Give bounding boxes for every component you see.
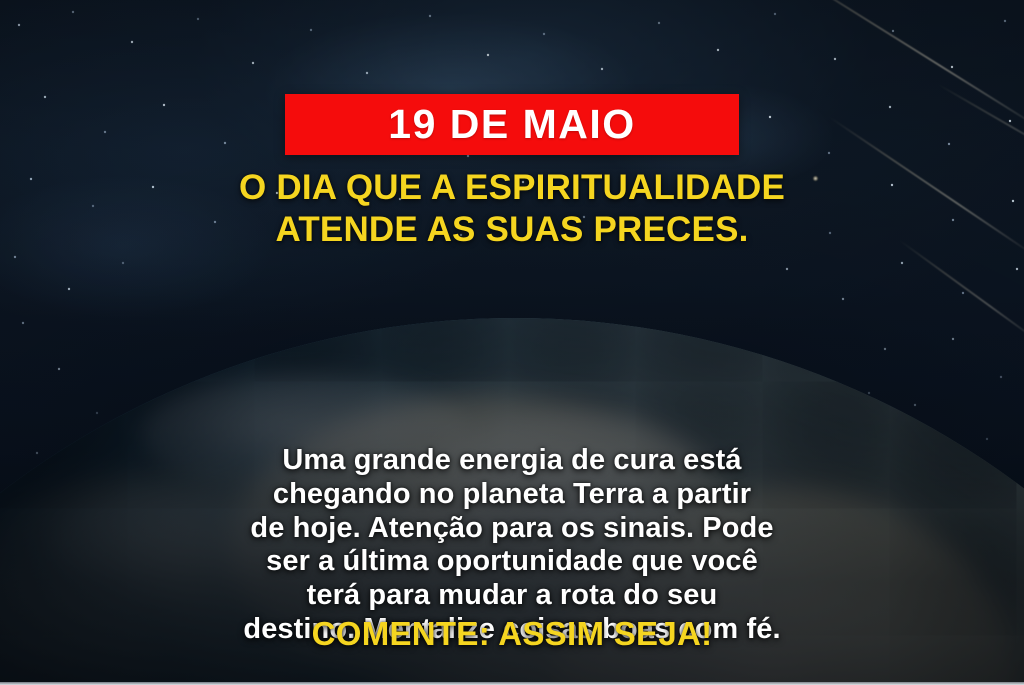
body-line-5: terá para mudar a rota do seu bbox=[0, 579, 1024, 613]
body-line-1: Uma grande energia de cura está bbox=[0, 444, 1024, 478]
headline-line-1: O DIA QUE A ESPIRITUALIDADE bbox=[0, 167, 1024, 209]
body-line-4: ser a última oportunidade que você bbox=[0, 545, 1024, 579]
date-banner-label: 19 DE MAIO bbox=[388, 104, 635, 145]
poster-image: 19 DE MAIO O DIA QUE A ESPIRITUALIDADE A… bbox=[0, 0, 1024, 685]
headline-line-2: ATENDE AS SUAS PRECES. bbox=[0, 209, 1024, 251]
body-line-3: de hoje. Atenção para os sinais. Pode bbox=[0, 512, 1024, 546]
call-to-action-text: COMENTE: ASSIM SEJA! bbox=[0, 616, 1024, 652]
poster-content: 19 DE MAIO O DIA QUE A ESPIRITUALIDADE A… bbox=[0, 0, 1024, 685]
body-line-2: chegando no planeta Terra a partir bbox=[0, 478, 1024, 512]
date-banner: 19 DE MAIO bbox=[285, 94, 739, 155]
headline: O DIA QUE A ESPIRITUALIDADE ATENDE AS SU… bbox=[0, 167, 1024, 251]
